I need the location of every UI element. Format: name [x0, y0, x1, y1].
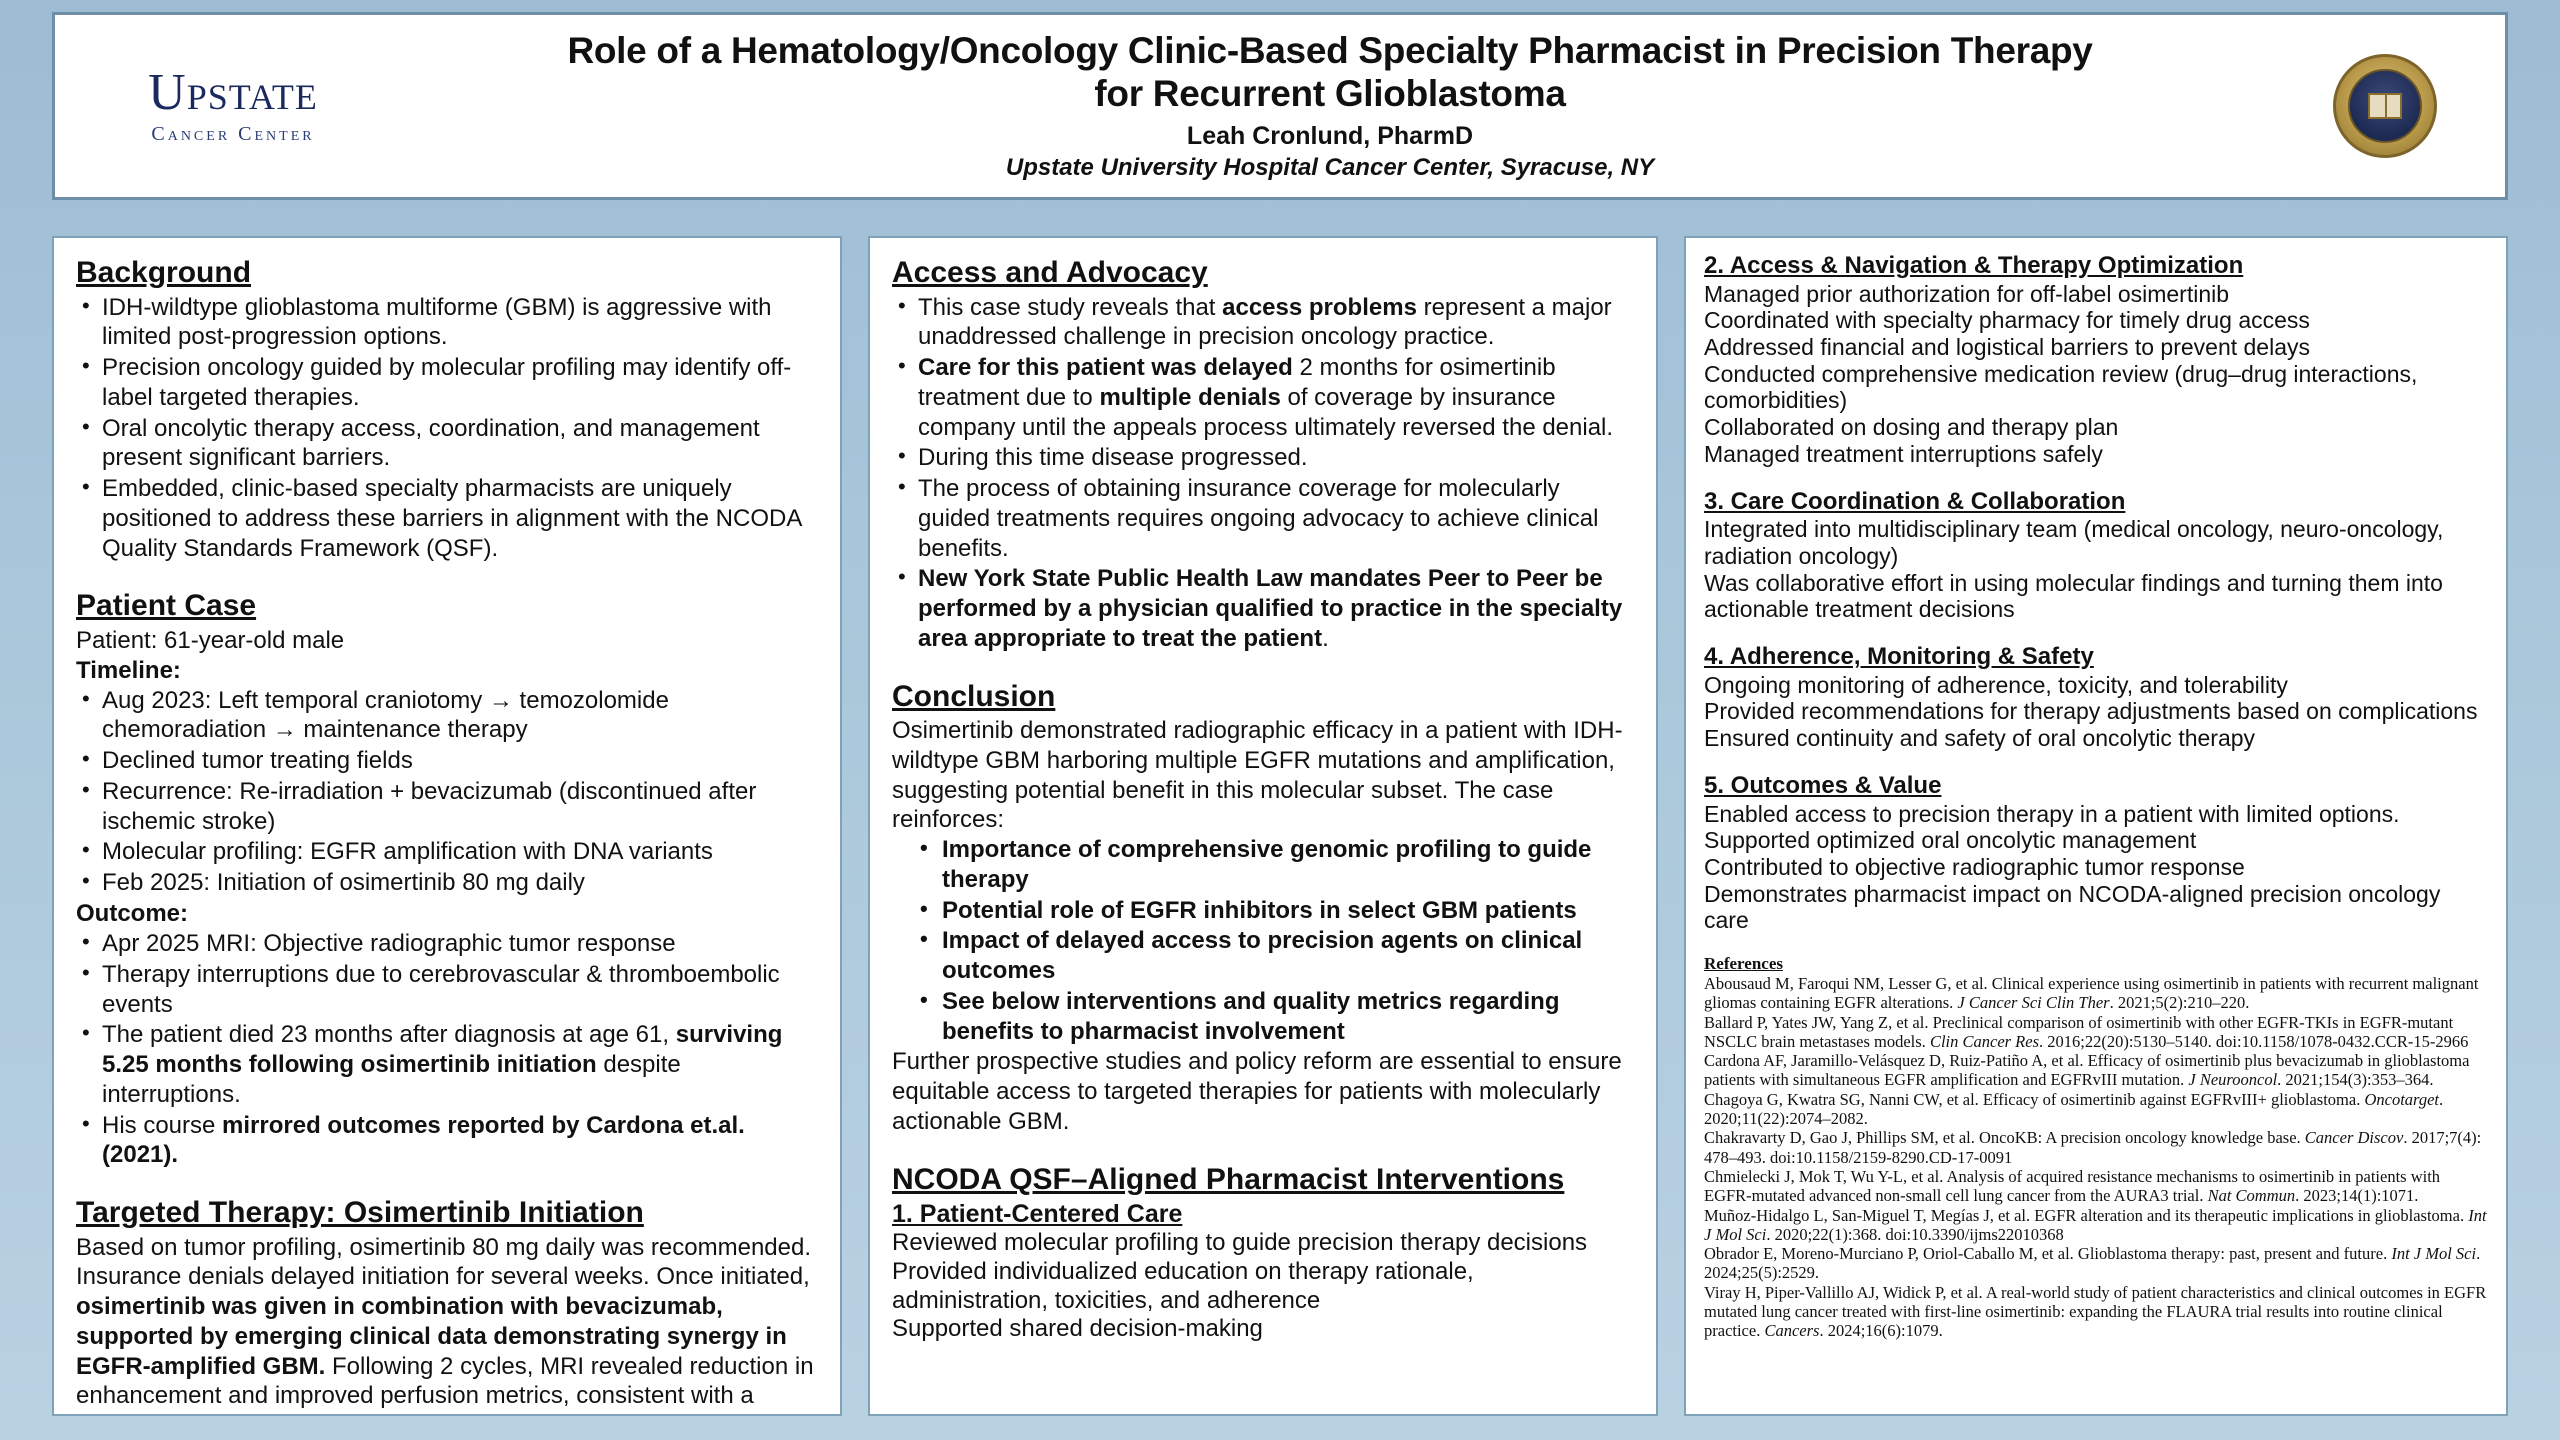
heading-background: Background — [76, 256, 818, 291]
list-item: Potential role of EGFR inhibitors in sel… — [892, 896, 1634, 926]
poster-author: Leah Cronlund, PharmD — [405, 122, 2255, 151]
heading-conclusion: Conclusion — [892, 680, 1634, 715]
heading-access-navigation: 2. Access & Navigation & Therapy Optimiz… — [1704, 252, 2488, 281]
list-item: Importance of comprehensive genomic prof… — [892, 835, 1634, 895]
reference-entry: Ballard P, Yates JW, Yang Z, et al. Prec… — [1704, 1013, 2488, 1052]
list-item: Declined tumor treating fields — [76, 746, 818, 776]
list-item: Supported optimized oral oncolytic manag… — [1704, 827, 2488, 854]
list-item: New York State Public Health Law mandate… — [892, 564, 1634, 653]
reference-entry: Chakravarty D, Gao J, Phillips SM, et al… — [1704, 1128, 2488, 1167]
text-bold-2: multiple denials — [1099, 384, 1280, 411]
heading-adherence-monitoring: 4. Adherence, Monitoring & Safety — [1704, 643, 2488, 672]
list-item: Enabled access to precision therapy in a… — [1704, 801, 2488, 828]
text-bold: New York State Public Health Law mandate… — [918, 565, 1622, 652]
list-item: IDH-wildtype glioblastoma multiforme (GB… — [76, 293, 818, 353]
heading-outcomes-value: 5. Outcomes & Value — [1704, 772, 2488, 801]
poster-affiliation: Upstate University Hospital Cancer Cente… — [405, 154, 2255, 182]
timeline-bullets: Aug 2023: Left temporal craniotomy → tem… — [76, 686, 818, 898]
list-item: Was collaborative effort in using molecu… — [1704, 570, 2488, 623]
list-item: Provided individualized education on the… — [892, 1258, 1634, 1316]
section-3-block: 3. Care Coordination & Collaboration Int… — [1704, 488, 2488, 623]
logo-wordmark: Upstate — [148, 67, 318, 119]
list-item: Collaborated on dosing and therapy plan — [1704, 414, 2488, 441]
list-item: Contributed to objective radiographic tu… — [1704, 854, 2488, 881]
heading-patient-centered-care: 1. Patient-Centered Care — [892, 1199, 1634, 1229]
column-left: Background IDH-wildtype glioblastoma mul… — [52, 236, 842, 1416]
heading-references: References — [1704, 954, 2488, 974]
university-seal-icon — [2333, 54, 2437, 158]
access-bullets: This case study reveals that access prob… — [892, 293, 1634, 654]
list-item: Therapy interruptions due to cerebrovasc… — [76, 960, 818, 1020]
section-5-lines: Enabled access to precision therapy in a… — [1704, 801, 2488, 934]
logo-subtitle: Cancer Center — [151, 123, 314, 146]
patient-descriptor: Patient: 61-year-old male — [76, 626, 818, 656]
list-item: Coordinated with specialty pharmacy for … — [1704, 307, 2488, 334]
reference-entry: Viray H, Piper-Vallillo AJ, Widick P, et… — [1704, 1283, 2488, 1341]
poster-title-line2: for Recurrent Glioblastoma — [405, 73, 2255, 116]
section-4-block: 4. Adherence, Monitoring & Safety Ongoin… — [1704, 643, 2488, 752]
section-2-block: 2. Access & Navigation & Therapy Optimiz… — [1704, 252, 2488, 468]
poster-header: Upstate Cancer Center Role of a Hematolo… — [52, 12, 2508, 200]
reference-entry: Abousaud M, Faroqui NM, Lesser G, et al.… — [1704, 974, 2488, 1013]
text-bold: access problems — [1222, 294, 1417, 321]
list-item: Supported shared decision-making — [892, 1315, 1634, 1344]
section-4-lines: Ongoing monitoring of adherence, toxicit… — [1704, 672, 2488, 752]
list-item: Recurrence: Re-irradiation + bevacizumab… — [76, 777, 818, 837]
timeline-label: Timeline: — [76, 656, 818, 686]
references-list: Abousaud M, Faroqui NM, Lesser G, et al.… — [1704, 974, 2488, 1341]
text-pre: This case study reveals that — [918, 294, 1222, 321]
heading-targeted-therapy: Targeted Therapy: Osimertinib Initiation — [76, 1196, 818, 1231]
list-item: Molecular profiling: EGFR amplification … — [76, 837, 818, 867]
poster-canvas: Upstate Cancer Center Role of a Hematolo… — [0, 0, 2560, 1440]
patient-centered-care-lines: Reviewed molecular profiling to guide pr… — [892, 1229, 1634, 1344]
column-right: 2. Access & Navigation & Therapy Optimiz… — [1684, 236, 2508, 1416]
text-pre: His course — [102, 1112, 222, 1139]
list-item: Oral oncolytic therapy access, coordinat… — [76, 414, 818, 474]
outcome-bullets: Apr 2025 MRI: Objective radiographic tum… — [76, 929, 818, 1170]
list-item: Managed prior authorization for off-labe… — [1704, 281, 2488, 308]
seal-inner — [2348, 69, 2422, 143]
targeted-therapy-paragraph: Based on tumor profiling, osimertinib 80… — [76, 1233, 818, 1416]
conclusion-paragraph-1: Osimertinib demonstrated radiographic ef… — [892, 716, 1634, 835]
seal-block — [2265, 54, 2505, 158]
list-item: See below interventions and quality metr… — [892, 987, 1634, 1047]
list-item: Aug 2023: Left temporal craniotomy → tem… — [76, 686, 818, 746]
text-post: . — [1322, 625, 1329, 652]
list-item-cardona: His course mirrored outcomes reported by… — [76, 1111, 818, 1171]
reference-entry: Obrador E, Moreno-Murciano P, Oriol-Caba… — [1704, 1244, 2488, 1283]
conclusion-paragraph-2: Further prospective studies and policy r… — [892, 1047, 1634, 1136]
list-item-survival: The patient died 23 months after diagnos… — [76, 1020, 818, 1109]
outcome-label: Outcome: — [76, 899, 818, 929]
list-item: Reviewed molecular profiling to guide pr… — [892, 1229, 1634, 1258]
poster-title-line1: Role of a Hematology/Oncology Clinic-Bas… — [405, 30, 2255, 73]
list-item: Ongoing monitoring of adherence, toxicit… — [1704, 672, 2488, 699]
list-item: Integrated into multidisciplinary team (… — [1704, 516, 2488, 569]
list-item: Precision oncology guided by molecular p… — [76, 353, 818, 413]
reference-entry: Muñoz-Hidalgo L, San-Miguel T, Megías J,… — [1704, 1206, 2488, 1245]
title-block: Role of a Hematology/Oncology Clinic-Bas… — [395, 30, 2265, 183]
list-item: During this time disease progressed. — [892, 443, 1634, 473]
list-item: Addressed financial and logistical barri… — [1704, 334, 2488, 361]
list-item: Apr 2025 MRI: Objective radiographic tum… — [76, 929, 818, 959]
book-icon — [2368, 93, 2402, 119]
reference-entry: Cardona AF, Jaramillo-Velásquez D, Ruiz-… — [1704, 1051, 2488, 1090]
list-item: Managed treatment interruptions safely — [1704, 441, 2488, 468]
upstate-logo: Upstate Cancer Center — [55, 67, 395, 146]
column-middle: Access and Advocacy This case study reve… — [868, 236, 1658, 1416]
list-item: Feb 2025: Initiation of osimertinib 80 m… — [76, 868, 818, 898]
list-item: Embedded, clinic-based specialty pharmac… — [76, 474, 818, 563]
list-item: Impact of delayed access to precision ag… — [892, 926, 1634, 986]
conclusion-bullets: Importance of comprehensive genomic prof… — [892, 835, 1634, 1046]
heading-access-advocacy: Access and Advocacy — [892, 256, 1634, 291]
text-pre: Based on tumor profiling, osimertinib 80… — [76, 1234, 811, 1291]
list-item: Care for this patient was delayed 2 mont… — [892, 353, 1634, 442]
list-item: Demonstrates pharmacist impact on NCODA-… — [1704, 881, 2488, 934]
heading-patient-case: Patient Case — [76, 589, 818, 624]
section-2-lines: Managed prior authorization for off-labe… — [1704, 281, 2488, 468]
reference-entry: Chmielecki J, Mok T, Wu Y-L, et al. Anal… — [1704, 1167, 2488, 1206]
list-item: Conducted comprehensive medication revie… — [1704, 361, 2488, 414]
text-pre: The patient died 23 months after diagnos… — [102, 1021, 676, 1048]
heading-care-coordination: 3. Care Coordination & Collaboration — [1704, 488, 2488, 517]
section-5-block: 5. Outcomes & Value Enabled access to pr… — [1704, 772, 2488, 934]
list-item: This case study reveals that access prob… — [892, 293, 1634, 353]
list-item: The process of obtaining insurance cover… — [892, 474, 1634, 563]
background-bullets: IDH-wildtype glioblastoma multiforme (GB… — [76, 293, 818, 564]
heading-ncoda-interventions: NCODA QSF–Aligned Pharmacist Interventio… — [892, 1163, 1634, 1198]
list-item: Ensured continuity and safety of oral on… — [1704, 725, 2488, 752]
list-item: Provided recommendations for therapy adj… — [1704, 698, 2488, 725]
text-bold-1: Care for this patient was delayed — [918, 354, 1293, 381]
reference-entry: Chagoya G, Kwatra SG, Nanni CW, et al. E… — [1704, 1090, 2488, 1129]
section-3-lines: Integrated into multidisciplinary team (… — [1704, 516, 2488, 623]
poster-body: Background IDH-wildtype glioblastoma mul… — [52, 236, 2508, 1416]
